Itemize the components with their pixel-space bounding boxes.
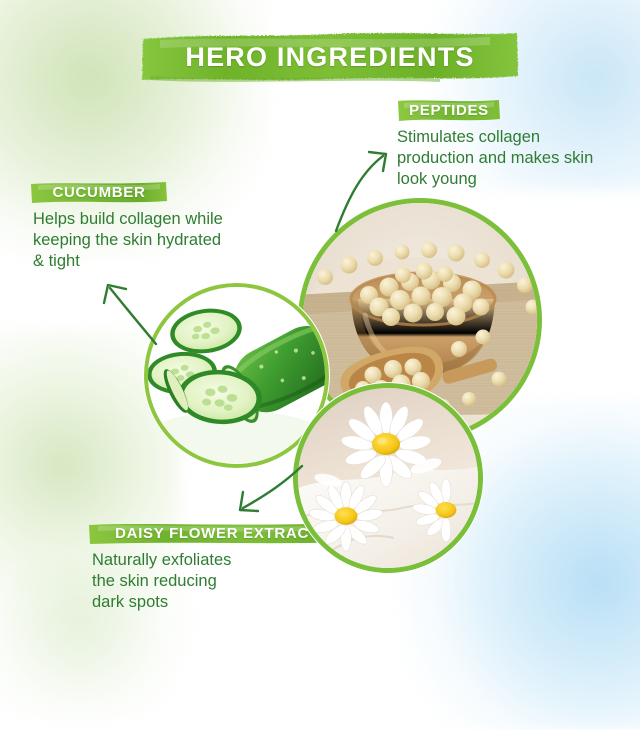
arrow-to-cucumber-icon: [104, 285, 156, 344]
badge-cucumber-label: CUCUMBER: [30, 181, 168, 204]
title-banner: HERO INGREDIENTS: [140, 30, 520, 84]
badge-cucumber: CUCUMBER: [30, 181, 168, 204]
badge-peptides: PEPTIDES: [397, 99, 501, 122]
cucumber-slices-photo: [148, 287, 325, 464]
description-peptides: Stimulates collagen production and makes…: [397, 127, 612, 190]
infographic-canvas: HERO INGREDIENTS: [0, 0, 640, 640]
badge-daisy-label: DAISY FLOWER EXTRACT: [88, 522, 346, 545]
daisy-flowers-photo: [298, 388, 478, 568]
cucumber-illustration-icon: [148, 287, 325, 464]
badge-peptides-label: PEPTIDES: [397, 99, 501, 122]
description-cucumber: Helps build collagen while keeping the s…: [33, 209, 258, 272]
daisy-illustration-icon: [298, 388, 478, 568]
description-daisy: Naturally exfoliates the skin reducing d…: [92, 550, 332, 613]
page-title: HERO INGREDIENTS: [140, 30, 520, 84]
badge-daisy: DAISY FLOWER EXTRACT: [88, 522, 346, 545]
arrow-to-daisy-icon: [240, 466, 302, 511]
